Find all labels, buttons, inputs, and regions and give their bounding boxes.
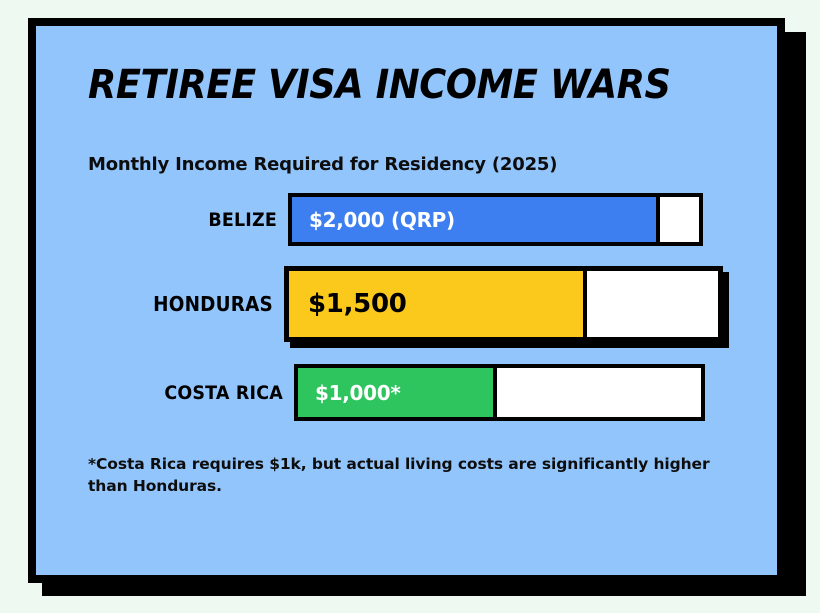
bar-label-costa-rica: COSTA RICA (104, 382, 294, 404)
page-title: RETIREE VISA INCOME WARS (88, 64, 681, 106)
bar-chart: BELIZE $2,000 (QRP) HONDURAS (88, 193, 733, 421)
chart-subtitle: Monthly Income Required for Residency (2… (88, 154, 733, 175)
bar-fill-edge-belize (656, 197, 660, 242)
bar-track-wrap-belize: $2,000 (QRP) (288, 193, 703, 246)
bar-fill-edge-honduras (583, 271, 587, 337)
bar-track-wrap-honduras: $1,500 (284, 266, 723, 342)
bar-label-belize: BELIZE (104, 209, 288, 231)
bar-track-belize: $2,000 (QRP) (288, 193, 703, 246)
bar-label-honduras: HONDURAS (104, 292, 284, 316)
bar-track-honduras: $1,500 (284, 266, 723, 342)
bar-value-costa-rica: $1,000* (298, 381, 401, 405)
bar-track-costa-rica: $1,000* (294, 364, 705, 421)
bar-fill-costa-rica: $1,000* (298, 368, 495, 417)
bar-fill-edge-costa-rica (493, 368, 497, 417)
chart-footnote: *Costa Rica requires $1k, but actual liv… (88, 453, 733, 498)
poster-canvas: RETIREE VISA INCOME WARS Monthly Income … (0, 0, 820, 613)
bar-value-honduras: $1,500 (289, 289, 407, 319)
bar-row-costa-rica: COSTA RICA $1,000* (88, 364, 733, 421)
bar-value-belize: $2,000 (QRP) (292, 208, 455, 232)
bar-row-belize: BELIZE $2,000 (QRP) (88, 193, 733, 246)
bar-fill-honduras: $1,500 (289, 271, 585, 337)
infographic-card: RETIREE VISA INCOME WARS Monthly Income … (28, 18, 785, 583)
bar-row-honduras: HONDURAS $1,500 (88, 266, 733, 342)
bar-track-wrap-costa-rica: $1,000* (294, 364, 705, 421)
bar-fill-belize: $2,000 (QRP) (292, 197, 658, 242)
card-content: RETIREE VISA INCOME WARS Monthly Income … (36, 26, 777, 575)
